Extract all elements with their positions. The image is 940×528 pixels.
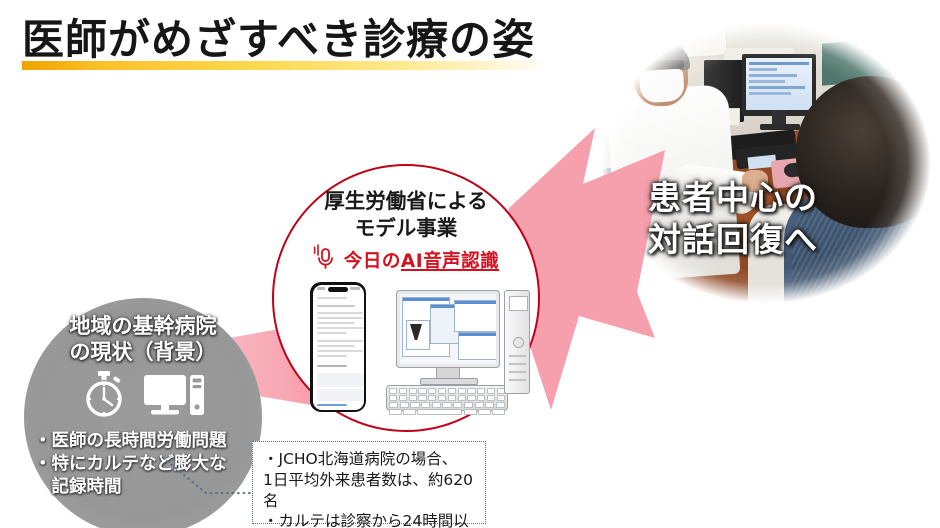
phone-card-block	[317, 373, 364, 387]
photo-monitor-base	[760, 124, 800, 130]
pc-window-titlebar	[455, 301, 496, 304]
phone-screen	[313, 285, 364, 410]
phone-footer-line	[317, 404, 347, 406]
phone-text-line	[317, 312, 363, 314]
pc-monitor	[396, 290, 500, 368]
phone-text-line	[317, 305, 355, 307]
photo-doctor-glasses	[634, 60, 684, 69]
pc-monitor-base	[420, 378, 478, 385]
phone-card-block	[317, 389, 364, 401]
phone-text-line	[317, 297, 347, 299]
photo-screen-line	[749, 86, 805, 89]
phone-status-left	[317, 287, 325, 290]
phone-text-line	[317, 322, 355, 324]
ai-voice-recognition-row: 今日のAI音声認識	[274, 244, 538, 275]
keyboard-row	[389, 388, 505, 394]
title-underline-bar	[22, 61, 545, 70]
ai-voice-label: 今日のAI音声認識	[344, 247, 499, 273]
phone-text-line	[317, 365, 347, 367]
phone-text-line	[317, 327, 363, 329]
phone-notch	[328, 287, 348, 292]
phone-text-line	[317, 332, 347, 334]
pc-window	[458, 332, 496, 360]
pc-tower-power-button	[513, 337, 524, 348]
phone-text-line	[317, 355, 347, 357]
pc-tower-vent	[509, 371, 526, 373]
pc-tower-vent	[509, 363, 526, 365]
pc-screen	[400, 294, 496, 364]
ai-label-prefix: 今日の	[344, 251, 401, 272]
pc-tower	[504, 290, 530, 394]
callout-leader-line	[160, 455, 260, 513]
photo-wall-notice	[683, 25, 727, 57]
phone-text-line	[317, 345, 355, 347]
callout-text: ・JCHO北海道病院の場合、 1日平均外来患者数は、約620名 ・カルテは診察か…	[263, 449, 479, 528]
pc-keyboard	[386, 385, 508, 411]
microphone-icon	[313, 244, 337, 275]
ai-label-underlined: AI音声認識	[401, 251, 499, 272]
photo-screen-line	[749, 62, 809, 65]
device-illustrations	[288, 282, 528, 422]
pc-tower-vent	[509, 379, 526, 381]
pc-tower-vent	[509, 355, 526, 357]
photo-screen-line	[749, 92, 791, 95]
photo-screen-line	[749, 68, 777, 71]
statistics-callout-box: ・JCHO北海道病院の場合、 1日平均外来患者数は、約620名 ・カルテは診察か…	[252, 441, 486, 524]
photo-screen-line	[749, 74, 797, 77]
phone-text-line	[317, 350, 363, 352]
pc-window-titlebar	[459, 333, 496, 336]
red-circle-heading: 厚生労働省による モデル事業	[274, 188, 538, 241]
photo-screen-line	[749, 80, 785, 83]
gray-circle-icons	[24, 368, 262, 424]
pc-tower-drive-bay	[509, 296, 528, 311]
stopwatch-icon	[81, 369, 127, 424]
photo-monitor-screen	[746, 58, 812, 110]
phone-status-right	[350, 287, 360, 290]
smartphone-transcript	[310, 282, 366, 412]
pc-window-titlebar	[403, 298, 449, 301]
desktop-computer-icon	[143, 369, 205, 424]
phone-text-line	[317, 317, 363, 319]
photo-caption: 患者中心の 対話回復へ	[648, 177, 818, 261]
keyboard-row	[389, 395, 505, 401]
slide-canvas: 医師がめざすべき診療の姿	[0, 0, 940, 528]
pc-window	[454, 300, 496, 332]
page-title: 医師がめざすべき診療の姿	[22, 6, 535, 67]
keyboard-row	[389, 409, 505, 415]
desktop-pc-illustration	[386, 290, 522, 412]
model-project-circle: 厚生労働省による モデル事業 今日のAI音声認識	[272, 164, 540, 432]
gray-circle-heading: 地域の基幹病院 の現状（背景）	[24, 314, 262, 365]
keyboard-row	[389, 402, 505, 408]
phone-text-line	[317, 340, 363, 342]
